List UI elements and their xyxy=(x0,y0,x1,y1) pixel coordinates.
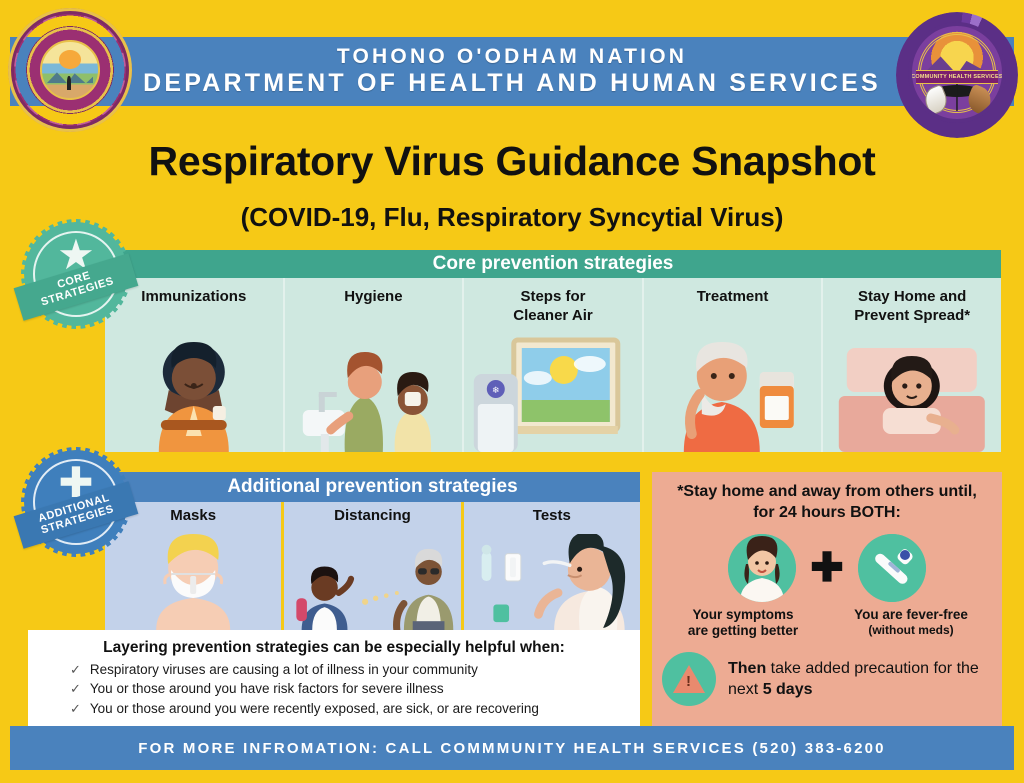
stay-home-icon-row: ✚ xyxy=(662,534,992,602)
caption-symptoms-line-1: Your symptoms xyxy=(663,607,823,624)
check-icon: ✓ xyxy=(70,681,81,697)
stay-home-panel: *Stay home and away from others until, f… xyxy=(652,472,1002,726)
seal-inner-scene xyxy=(40,40,100,100)
core-strategies-badge: ★ CORE STRATEGIES xyxy=(24,222,128,326)
community-health-services-seal-icon: COMMUNITY HEALTH SERVICES xyxy=(896,12,1018,138)
core-strategies-section: Core prevention strategies Immunizations xyxy=(105,250,1001,452)
plus-icon: ✚ xyxy=(810,548,844,588)
woman-vaccinated-arm-icon xyxy=(105,334,283,452)
stay-home-title: *Stay home and away from others until, f… xyxy=(662,482,992,524)
layering-strategies-box: Layering prevention strategies can be es… xyxy=(28,630,640,726)
seal-disc: COMMUNITY HEALTH SERVICES xyxy=(908,22,1006,123)
header-line-1: TOHONO O'ODHAM NATION xyxy=(143,45,881,69)
additional-label-tests: Tests xyxy=(533,507,571,524)
additional-column-distancing[interactable]: Distancing xyxy=(284,502,463,630)
footer-contact-text: FOR MORE INFROMATION: CALL COMMMUNITY HE… xyxy=(138,740,885,757)
core-label-stay-home: Stay Home and Prevent Spread* xyxy=(854,288,970,326)
additional-section-header: Additional prevention strategies xyxy=(105,472,640,502)
core-section-title: Core prevention strategies xyxy=(433,253,674,275)
older-man-pill-bottle-icon xyxy=(644,334,822,452)
then-bold-word: Then xyxy=(728,660,766,677)
layering-item-text: You or those around you have risk factor… xyxy=(90,681,444,696)
triangle-shape xyxy=(673,665,705,693)
air-purifier-open-window-icon: ❄ xyxy=(464,334,642,452)
additional-strategies-badge: ✚ ADDITIONAL STRATEGIES xyxy=(24,450,128,554)
core-label-hygiene: Hygiene xyxy=(344,288,402,307)
caption-fever-line-2: (without meds) xyxy=(831,623,991,638)
page-subtitle: (COVID-19, Flu, Respiratory Syncytial Vi… xyxy=(0,202,1024,233)
caption-fever-free: You are fever-free (without meds) xyxy=(831,607,991,641)
additional-columns: Masks Distancing xyxy=(105,502,640,630)
woman-in-bed-icon xyxy=(823,334,1001,452)
layering-item-text: You or those around you were recently ex… xyxy=(90,701,539,716)
additional-strategies-section: Additional prevention strategies Masks xyxy=(105,472,640,630)
layering-list-item: ✓ You or those around you have risk fact… xyxy=(70,681,626,697)
person-wearing-mask-icon xyxy=(105,534,281,630)
then-precaution-text: Then take added precaution for the next … xyxy=(728,658,992,700)
core-column-stay-home[interactable]: Stay Home and Prevent Spread* xyxy=(823,278,1001,452)
caption-symptoms: Your symptoms are getting better xyxy=(663,607,823,641)
layering-list-item: ✓ You or those around you were recently … xyxy=(70,701,626,717)
core-column-hygiene[interactable]: Hygiene xyxy=(285,278,465,452)
seal-band-label: COMMUNITY HEALTH SERVICES xyxy=(911,74,1002,80)
core-column-immunizations[interactable]: Immunizations xyxy=(105,278,285,452)
caption-symptoms-line-2: are getting better xyxy=(663,623,823,640)
poster-canvas: TOHONO O'ODHAM NATION DEPARTMENT OF HEAL… xyxy=(0,0,1024,783)
additional-section-title: Additional prevention strategies xyxy=(227,476,517,498)
warning-triangle-icon xyxy=(662,652,716,706)
additional-label-distancing: Distancing xyxy=(334,507,411,524)
woman-feeling-better-icon xyxy=(728,534,796,602)
additional-label-masks: Masks xyxy=(170,507,216,524)
sun-icon xyxy=(59,50,81,69)
then-days: 5 days xyxy=(763,681,813,698)
core-label-immunizations: Immunizations xyxy=(141,288,246,307)
core-column-treatment[interactable]: Treatment xyxy=(644,278,824,452)
header-line-2: DEPARTMENT OF HEALTH AND HUMAN SERVICES xyxy=(143,69,881,98)
footer-bar: FOR MORE INFROMATION: CALL COMMMUNITY HE… xyxy=(10,726,1014,770)
two-people-distanced-icon xyxy=(284,534,460,630)
then-precaution-row: Then take added precaution for the next … xyxy=(662,652,992,706)
seal-band: COMMUNITY HEALTH SERVICES xyxy=(916,70,998,84)
header-bar: TOHONO O'ODHAM NATION DEPARTMENT OF HEAL… xyxy=(10,37,1014,106)
core-columns: Immunizations xyxy=(105,278,1001,452)
core-column-cleaner-air[interactable]: Steps for Cleaner Air ❄ xyxy=(464,278,644,452)
additional-column-tests[interactable]: Tests xyxy=(464,502,640,630)
additional-column-masks[interactable]: Masks xyxy=(105,502,284,630)
thermometer-icon xyxy=(858,534,926,602)
header-title-block: TOHONO O'ODHAM NATION DEPARTMENT OF HEAL… xyxy=(143,45,881,98)
figure-icon xyxy=(67,76,71,90)
core-label-cleaner-air: Steps for Cleaner Air xyxy=(513,288,592,326)
stay-home-title-line-1: *Stay home and away from others until, xyxy=(662,482,992,503)
woman-swab-test-icon xyxy=(464,534,640,630)
handwashing-icon xyxy=(285,334,463,452)
layering-list-item: ✓ Respiratory viruses are causing a lot … xyxy=(70,662,626,678)
layering-title: Layering prevention strategies can be es… xyxy=(42,639,626,657)
mountain-icon xyxy=(47,67,94,84)
layering-item-text: Respiratory viruses are causing a lot of… xyxy=(90,662,478,677)
core-label-treatment: Treatment xyxy=(697,288,769,307)
svg-text:❄: ❄ xyxy=(492,385,500,395)
core-section-header: Core prevention strategies xyxy=(105,250,1001,278)
stay-home-title-line-2: for 24 hours BOTH: xyxy=(662,503,992,524)
caption-fever-line-1: You are fever-free xyxy=(831,607,991,624)
check-icon: ✓ xyxy=(70,662,81,678)
stay-home-captions: Your symptoms are getting better You are… xyxy=(662,607,992,641)
tribal-department-seal-icon xyxy=(8,8,132,132)
check-icon: ✓ xyxy=(70,701,81,717)
page-title: Respiratory Virus Guidance Snapshot xyxy=(0,138,1024,185)
